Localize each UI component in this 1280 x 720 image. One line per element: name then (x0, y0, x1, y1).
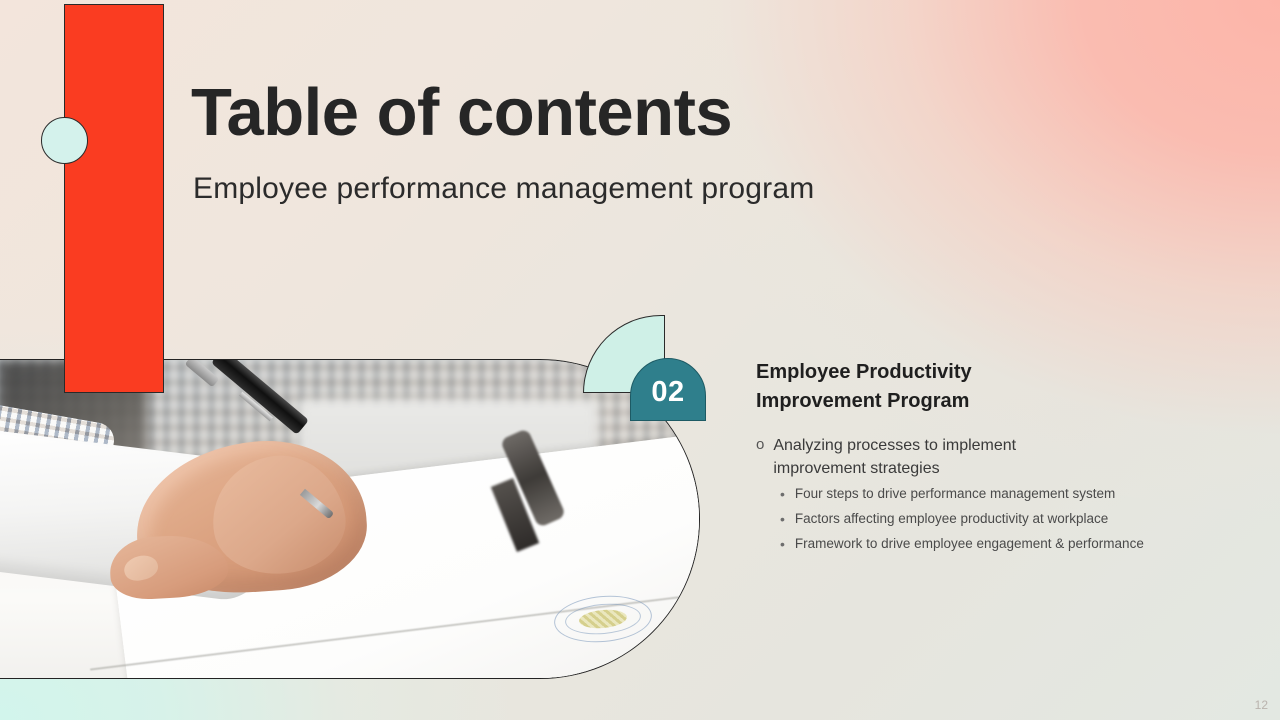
main-bullet-item: o Analyzing processes to implement impro… (756, 434, 1226, 480)
list-item: • Factors affecting employee productivit… (780, 509, 1226, 531)
section-photo (0, 359, 700, 679)
dot-bullet-icon: • (780, 509, 785, 531)
list-item: • Four steps to drive performance manage… (780, 484, 1226, 506)
sub-bullet-text: Four steps to drive performance manageme… (795, 484, 1115, 505)
section-heading: Employee Productivity Improvement Progra… (756, 358, 1056, 416)
main-bullet-text: Analyzing processes to implement improve… (773, 434, 1093, 480)
sub-bullet-text: Factors affecting employee productivity … (795, 509, 1108, 530)
photo-illustration (0, 360, 699, 678)
page-number: 12 (1255, 698, 1268, 712)
page-title: Table of contents (191, 78, 732, 148)
red-accent-bar (64, 4, 164, 393)
dot-bullet-icon: • (780, 484, 785, 506)
page-subtitle: Employee performance management program (193, 172, 814, 206)
list-item: • Framework to drive employee engagement… (780, 534, 1226, 556)
circle-bullet-icon: o (756, 434, 764, 457)
dot-bullet-icon: • (780, 534, 785, 556)
sub-bullet-list: • Four steps to drive performance manage… (780, 484, 1226, 555)
mint-circle-accent (41, 117, 88, 164)
section-content: Employee Productivity Improvement Progra… (756, 358, 1226, 558)
sub-bullet-text: Framework to drive employee engagement &… (795, 534, 1144, 555)
section-number-text: 02 (651, 370, 684, 409)
slide-canvas: Table of contents Employee performance m… (0, 0, 1280, 720)
